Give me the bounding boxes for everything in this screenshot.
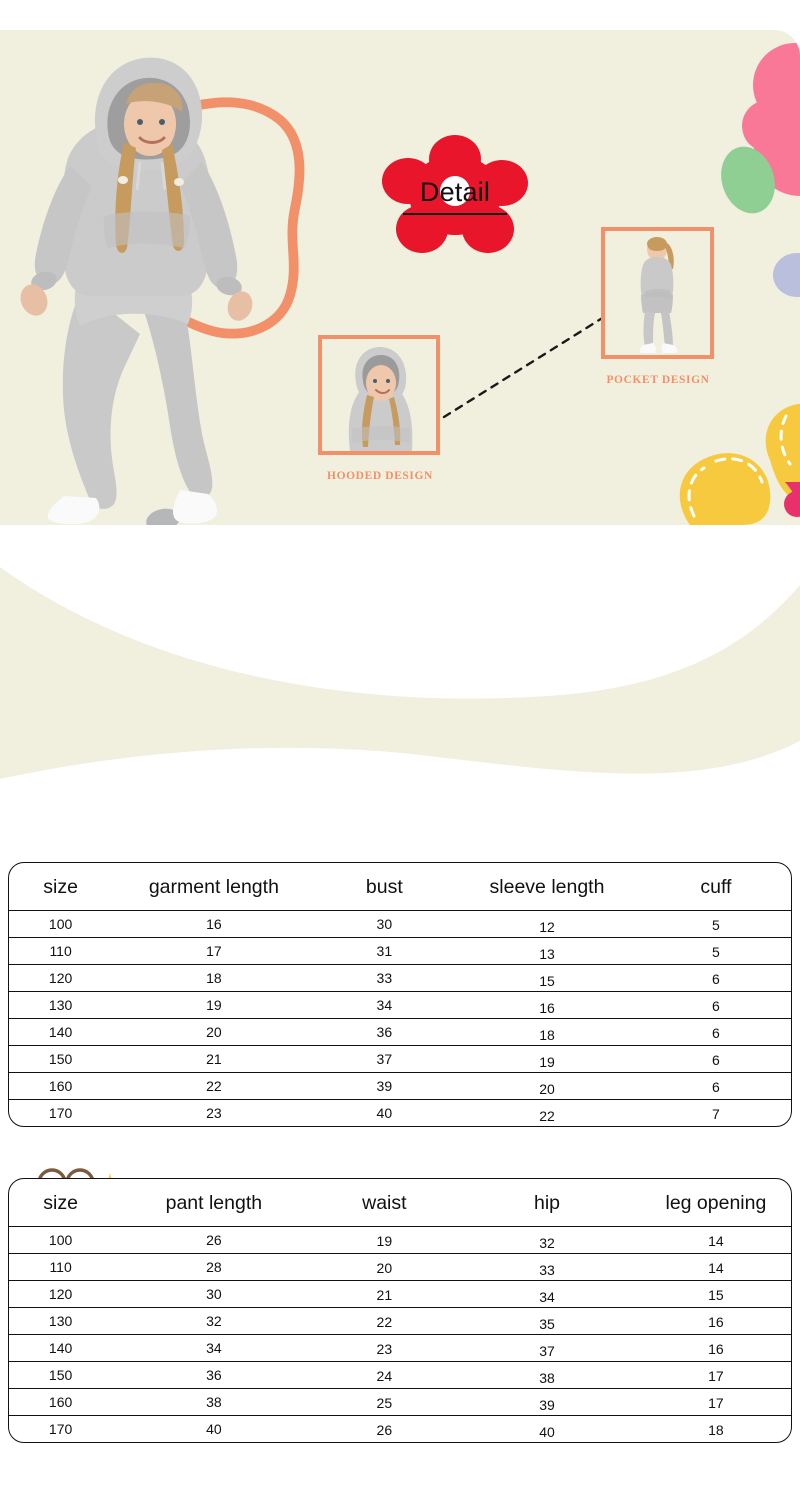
table-row: 150 21 37 19 6 [9, 1046, 791, 1073]
detail-badge-label: Detail [380, 177, 530, 208]
cell-size: 140 [9, 1335, 112, 1362]
cell-waist: 26 [316, 1417, 454, 1444]
col-header-hip: hip [453, 1179, 641, 1227]
size-chart-top: size garment length bust sleeve length c… [8, 862, 792, 1127]
col-header-waist: waist [316, 1179, 454, 1227]
cell-sleeve-length: 16 [453, 995, 641, 1022]
cell-sleeve-length: 22 [453, 1103, 641, 1128]
cell-garment-length: 22 [112, 1073, 315, 1100]
size-chart-bottom: size pant length waist hip leg opening 1… [8, 1178, 792, 1443]
cell-bust: 33 [316, 965, 454, 992]
cell-hip: 35 [453, 1311, 641, 1338]
hero-section: Detail HOODED DESIGN [0, 30, 800, 525]
cell-size: 170 [9, 1100, 112, 1127]
cell-leg-opening: 14 [641, 1228, 791, 1255]
cell-cuff: 6 [641, 1074, 791, 1101]
cell-sleeve-length: 12 [453, 914, 641, 941]
cell-leg-opening: 18 [641, 1417, 791, 1444]
table-row: 110 28 20 33 14 [9, 1254, 791, 1281]
cell-waist: 25 [316, 1390, 454, 1417]
product-information-banner: Product Information [0, 525, 800, 855]
cell-waist: 22 [316, 1309, 454, 1336]
cell-hip: 39 [453, 1392, 641, 1419]
cell-pant-length: 26 [112, 1227, 315, 1254]
cell-sleeve-length: 20 [453, 1076, 641, 1103]
cell-size: 120 [9, 1281, 112, 1308]
dashed-connector-icon [440, 311, 608, 421]
cell-bust: 40 [316, 1100, 454, 1127]
table-row: 140 34 23 37 16 [9, 1335, 791, 1362]
cell-cuff: 6 [641, 966, 791, 993]
cell-garment-length: 23 [112, 1100, 315, 1127]
cell-garment-length: 17 [112, 938, 315, 965]
cell-garment-length: 19 [112, 992, 315, 1019]
cell-cuff: 5 [641, 939, 791, 966]
col-header-sleeve-length: sleeve length [453, 863, 641, 911]
cell-cuff: 6 [641, 1047, 791, 1074]
table-row: 140 20 36 18 6 [9, 1019, 791, 1046]
cell-hip: 34 [453, 1284, 641, 1311]
table-row: 160 38 25 39 17 [9, 1389, 791, 1416]
cell-bust: 30 [316, 911, 454, 938]
cell-hip: 40 [453, 1419, 641, 1444]
col-header-garment-length: garment length [112, 863, 315, 911]
cell-waist: 23 [316, 1336, 454, 1363]
cell-pant-length: 28 [112, 1254, 315, 1281]
cell-size: 100 [9, 1227, 112, 1254]
col-header-size: size [9, 1179, 112, 1227]
cell-sleeve-length: 18 [453, 1022, 641, 1049]
detail-frame-pocket[interactable] [601, 227, 714, 359]
table-row: 100 16 30 12 5 [9, 911, 791, 938]
table-row: 160 22 39 20 6 [9, 1073, 791, 1100]
cell-garment-length: 18 [112, 965, 315, 992]
col-header-bust: bust [316, 863, 454, 911]
cell-waist: 24 [316, 1363, 454, 1390]
table-header-row: size pant length waist hip leg opening [9, 1179, 791, 1227]
table-row: 170 23 40 22 7 [9, 1100, 791, 1127]
cell-size: 160 [9, 1073, 112, 1100]
cell-pant-length: 34 [112, 1335, 315, 1362]
model-photo [4, 38, 272, 525]
cell-pant-length: 32 [112, 1308, 315, 1335]
cell-garment-length: 16 [112, 911, 315, 938]
banner-wave-shape [0, 525, 800, 855]
cell-waist: 19 [316, 1228, 454, 1255]
petal-cluster-icon [680, 404, 800, 525]
cell-hip: 37 [453, 1338, 641, 1365]
cell-size: 130 [9, 1308, 112, 1335]
cell-cuff: 7 [641, 1101, 791, 1128]
table-row: 130 19 34 16 6 [9, 992, 791, 1019]
cell-garment-length: 21 [112, 1046, 315, 1073]
cell-bust: 31 [316, 938, 454, 965]
cell-sleeve-length: 13 [453, 941, 641, 968]
cell-leg-opening: 14 [641, 1255, 791, 1282]
cell-leg-opening: 15 [641, 1282, 791, 1309]
table-row: 170 40 26 40 18 [9, 1416, 791, 1443]
detail-frame-hooded[interactable] [318, 335, 440, 455]
cell-size: 140 [9, 1019, 112, 1046]
cell-size: 170 [9, 1416, 112, 1443]
cell-waist: 20 [316, 1255, 454, 1282]
cell-bust: 39 [316, 1073, 454, 1100]
detail-badge-underline [403, 213, 507, 215]
table-row: 130 32 22 35 16 [9, 1308, 791, 1335]
cell-pant-length: 38 [112, 1389, 315, 1416]
cell-sleeve-length: 19 [453, 1049, 641, 1076]
cell-leg-opening: 17 [641, 1363, 791, 1390]
cell-hip: 32 [453, 1230, 641, 1257]
cell-size: 130 [9, 992, 112, 1019]
cell-cuff: 6 [641, 1020, 791, 1047]
detail-label-pocket: POCKET DESIGN [580, 374, 736, 386]
col-header-cuff: cuff [641, 863, 791, 911]
cell-bust: 36 [316, 1019, 454, 1046]
table-row: 110 17 31 13 5 [9, 938, 791, 965]
cell-leg-opening: 16 [641, 1309, 791, 1336]
cell-sleeve-length: 15 [453, 968, 641, 995]
blob-lavender-icon [773, 253, 800, 297]
cell-leg-opening: 17 [641, 1390, 791, 1417]
detail-badge: Detail [380, 133, 530, 258]
cell-hip: 33 [453, 1257, 641, 1284]
cell-pant-length: 30 [112, 1281, 315, 1308]
cell-bust: 34 [316, 992, 454, 1019]
table-header-row: size garment length bust sleeve length c… [9, 863, 791, 911]
cell-size: 110 [9, 1254, 112, 1281]
cell-bust: 37 [316, 1046, 454, 1073]
col-header-pant-length: pant length [112, 1179, 315, 1227]
cell-size: 150 [9, 1362, 112, 1389]
table-row: 100 26 19 32 14 [9, 1227, 791, 1254]
cell-size: 150 [9, 1046, 112, 1073]
col-header-size: size [9, 863, 112, 911]
cell-garment-length: 20 [112, 1019, 315, 1046]
product-detail-page: Detail HOODED DESIGN [0, 0, 800, 1490]
cell-size: 120 [9, 965, 112, 992]
cell-pant-length: 36 [112, 1362, 315, 1389]
cell-size: 110 [9, 938, 112, 965]
cell-size: 100 [9, 911, 112, 938]
table-row: 120 18 33 15 6 [9, 965, 791, 992]
cell-leg-opening: 16 [641, 1336, 791, 1363]
cell-cuff: 6 [641, 993, 791, 1020]
table-row: 150 36 24 38 17 [9, 1362, 791, 1389]
detail-label-hooded: HOODED DESIGN [300, 470, 460, 482]
col-header-leg-opening: leg opening [641, 1179, 791, 1227]
cell-hip: 38 [453, 1365, 641, 1392]
cell-size: 160 [9, 1389, 112, 1416]
table-row: 120 30 21 34 15 [9, 1281, 791, 1308]
cell-pant-length: 40 [112, 1416, 315, 1443]
cell-waist: 21 [316, 1282, 454, 1309]
cell-cuff: 5 [641, 912, 791, 939]
